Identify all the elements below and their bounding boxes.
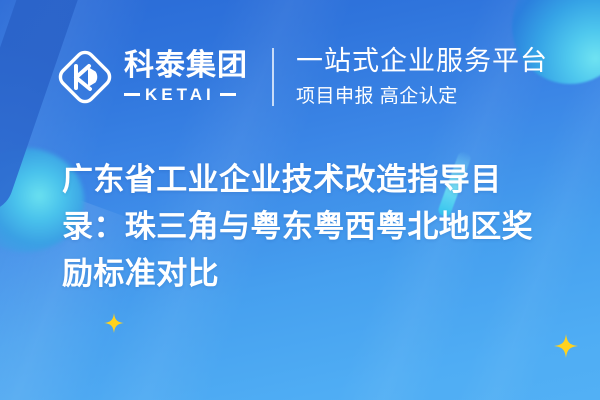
tagline-block: 一站式企业服务平台 项目申报 高企认定 [296, 46, 548, 108]
company-logo[interactable]: 科泰集团 KETAI [54, 46, 248, 108]
page-title: 广东省工业企业技术改造指导目录：珠三角与粤东粤西粤北地区奖励标准对比 [62, 156, 562, 297]
logo-company-name-en-row: KETAI [124, 86, 248, 103]
promo-banner: 科泰集团 KETAI 一站式企业服务平台 项目申报 高企认定 广东省工业企业技术… [0, 0, 600, 400]
sparkle-star-icon [554, 334, 578, 358]
logo-dash-left [124, 93, 140, 96]
logo-dash-right [220, 93, 236, 96]
banner-header: 科泰集团 KETAI 一站式企业服务平台 项目申报 高企认定 [54, 42, 548, 112]
logo-wordmark: 科泰集团 KETAI [124, 51, 248, 103]
tagline-main-text: 一站式企业服务平台 [296, 46, 548, 76]
sparkle-star-icon [104, 313, 124, 333]
tagline-sub-text: 项目申报 高企认定 [296, 81, 548, 108]
logo-company-name-en: KETAI [145, 86, 215, 103]
header-divider [272, 48, 274, 106]
ketai-diamond-kd-monogram-icon [54, 46, 116, 108]
logo-company-name-cn: 科泰集团 [124, 51, 248, 81]
